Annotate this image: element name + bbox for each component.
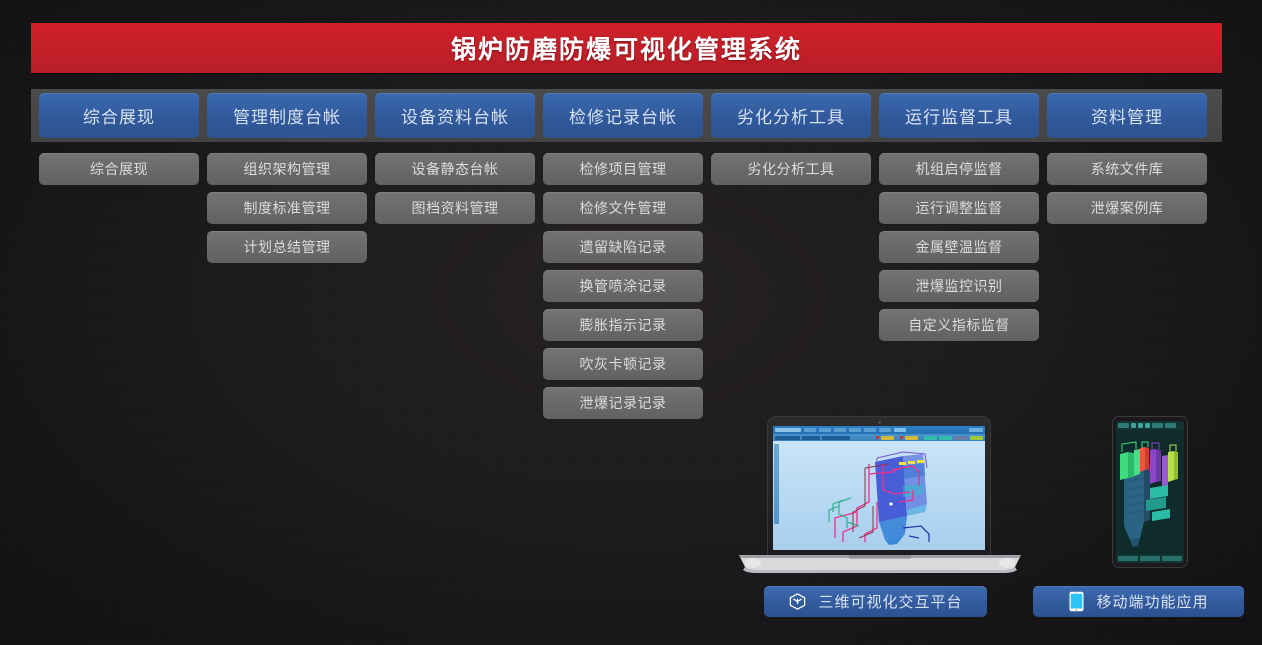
phone-bottom-button [1162,556,1182,561]
laptop-camera-icon [878,421,881,424]
app-menu-item-active [894,428,906,432]
toolbar-button-green [970,436,983,440]
nav-item-guanlizhidutaizhang[interactable]: 管理制度台帐 [207,93,367,138]
toolbar-field [802,436,820,440]
page-title-banner: 锅炉防磨防爆可视化管理系统 [31,23,1222,73]
legend-chip-yellow [905,436,918,440]
legend-chip-yellow [881,436,894,440]
submenu-column-jianxiujilutaizhang: 检修项目管理 检修文件管理 遗留缺陷记录 换管喷涂记录 膨胀指示记录 吹灰卡顿记… [543,153,703,419]
phone-app-toolbar [1116,421,1184,430]
nav-item-yunxingjiandugongju[interactable]: 运行监督工具 [879,93,1039,138]
phone-toolbar-label [1165,423,1176,428]
nav-item-shebeiziliaotaizhang[interactable]: 设备资料台帐 [375,93,535,138]
submenu-item[interactable]: 劣化分析工具 [711,153,871,185]
toolbar-button-gray [954,436,967,440]
submenu-item[interactable]: 系统文件库 [1047,153,1207,185]
phone-toolbar-label [1118,423,1129,428]
submenu-item[interactable]: 图档资料管理 [375,192,535,224]
phone-bottom-button [1140,556,1160,561]
submenu-item[interactable]: 金属壁温监督 [879,231,1039,263]
nav-item-ziliaoguanli[interactable]: 资料管理 [1047,93,1207,138]
app-logo [775,428,801,432]
app-menu-item [834,428,846,432]
laptop-app-toolbar [773,434,985,441]
submenu-item[interactable]: 综合展现 [39,153,199,185]
submenu-column-guanlizhidutaizhang: 组织架构管理 制度标准管理 计划总结管理 [207,153,367,263]
toolbar-button-teal [939,436,952,440]
cta-mobile-label: 移动端功能应用 [1096,591,1208,612]
main-nav: 综合展现 管理制度台帐 设备资料台帐 检修记录台帐 劣化分析工具 运行监督工具 … [39,93,1215,138]
app-menu-item [804,428,816,432]
phone-toolbar-icon [1145,423,1150,428]
mobile-phone-icon [1068,591,1085,612]
laptop-app-menubar [773,426,985,434]
submenu-item[interactable]: 换管喷涂记录 [543,270,703,302]
toolbar-field [775,436,800,440]
submenu-item[interactable]: 检修项目管理 [543,153,703,185]
submenu-column-liehuafenxigongju: 劣化分析工具 [711,153,871,185]
cta-3d-visualization-platform[interactable]: 三维可视化交互平台 [764,586,987,617]
boiler-3d-model-mobile [1116,430,1184,554]
nav-item-jianxiujilutaizhang[interactable]: 检修记录台帐 [543,93,703,138]
page-title: 锅炉防磨防爆可视化管理系统 [451,30,802,66]
boiler-3d-model-desktop [773,442,985,550]
submenu-item[interactable]: 运行调整监督 [879,192,1039,224]
toolbar-button-teal [924,436,937,440]
phone-toolbar-label [1152,423,1163,428]
phone-toolbar-icon [1138,423,1143,428]
app-menu-item [879,428,891,432]
phone-bottom-bar [1116,554,1184,563]
submenu-item[interactable]: 组织架构管理 [207,153,367,185]
cube-3d-icon [788,592,807,611]
submenu-item[interactable]: 膨胀指示记录 [543,309,703,341]
submenu-item[interactable]: 制度标准管理 [207,192,367,224]
phone-bottom-button [1118,556,1138,561]
submenu-item[interactable]: 吹灰卡顿记录 [543,348,703,380]
submenu-item[interactable]: 机组启停监督 [879,153,1039,185]
submenu-item[interactable]: 泄爆监控识别 [879,270,1039,302]
status-dot-red [900,436,902,439]
nav-item-liehuafenxigongju[interactable]: 劣化分析工具 [711,93,871,138]
submenu-column-yunxingjiandugongju: 机组启停监督 运行调整监督 金属壁温监督 泄爆监控识别 自定义指标监督 [879,153,1039,341]
laptop-mockup [737,417,1023,575]
toolbar-field [822,436,850,440]
app-menu-item [864,428,876,432]
phone-mockup [1113,417,1187,567]
submenu-column-zonghezhanxian: 综合展现 [39,153,199,185]
phone-screen [1116,421,1184,563]
app-menu-item [819,428,831,432]
laptop-base [737,555,1023,575]
submenu-item[interactable]: 自定义指标监督 [879,309,1039,341]
submenu-item[interactable]: 计划总结管理 [207,231,367,263]
app-root: 锅炉防磨防爆可视化管理系统 综合展现 管理制度台帐 设备资料台帐 检修记录台帐 … [0,0,1262,645]
submenu-column-ziliaoguanli: 系统文件库 泄爆案例库 [1047,153,1207,224]
submenu-item[interactable]: 泄爆记录记录 [543,387,703,419]
laptop-screen [773,426,985,550]
submenu-item[interactable]: 设备静态台帐 [375,153,535,185]
app-user-badge [969,428,983,432]
submenu-item[interactable]: 遗留缺陷记录 [543,231,703,263]
cta-3d-label: 三维可视化交互平台 [818,591,962,612]
cta-mobile-application[interactable]: 移动端功能应用 [1033,586,1244,617]
laptop-lid [768,417,990,557]
submenu-item[interactable]: 泄爆案例库 [1047,192,1207,224]
submenu-item[interactable]: 检修文件管理 [543,192,703,224]
phone-toolbar-icon [1131,423,1136,428]
nav-item-zonghezhanxian[interactable]: 综合展现 [39,93,199,138]
status-dot-red [876,436,878,439]
submenu-column-shebeiziliaotaizhang: 设备静态台帐 图档资料管理 [375,153,535,224]
submenu-columns: 综合展现 组织架构管理 制度标准管理 计划总结管理 设备静态台帐 图档资料管理 … [39,153,1215,419]
app-menu-item [849,428,861,432]
